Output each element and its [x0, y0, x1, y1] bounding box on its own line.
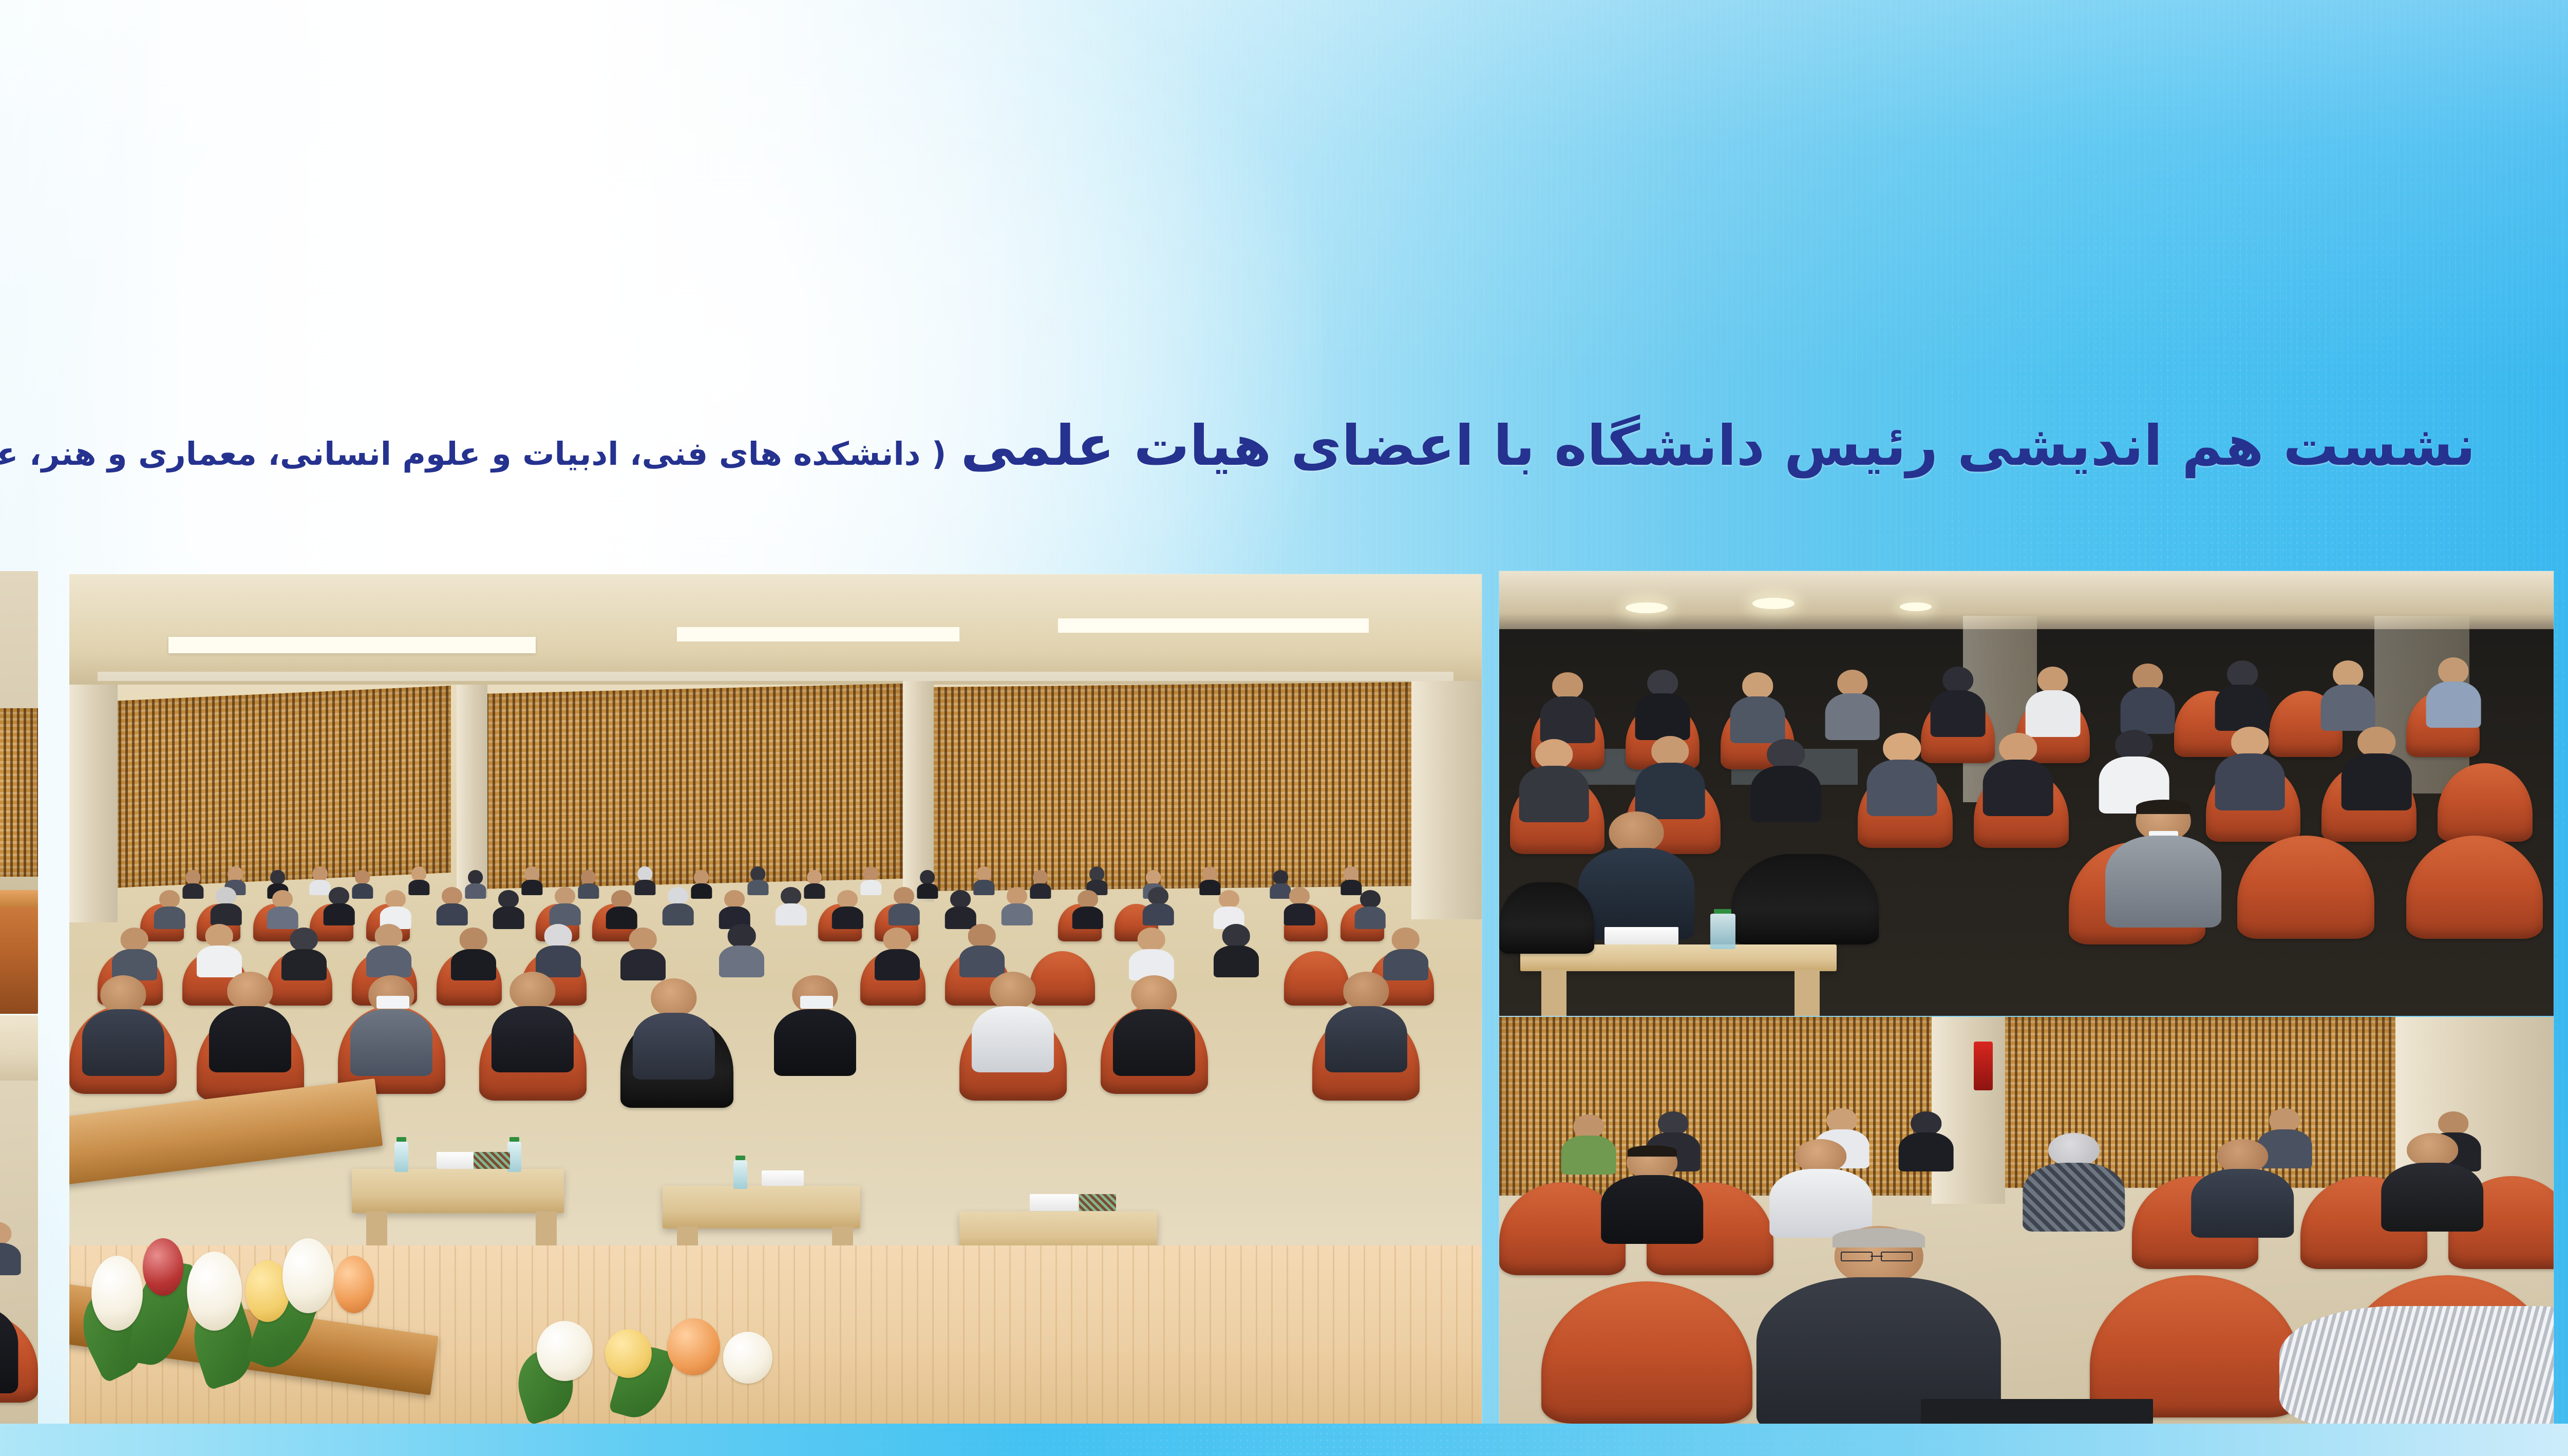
page-subtitle-faculties: ( دانشکده های فنی، ادبیات و علوم انسانی،… — [0, 437, 946, 475]
photo-audience-right-upper — [1499, 571, 2554, 1016]
photo-audience-right-lower — [1499, 1017, 2554, 1424]
photo-mosaic — [0, 571, 2568, 1424]
page-title: نشست هم اندیشی رئیس دانشگاه با اعضای هیا… — [960, 417, 2476, 475]
footer-gradient-strip — [0, 1424, 2568, 1456]
banner-title-row: نشست هم اندیشی رئیس دانشگاه با اعضای هیا… — [0, 417, 2476, 475]
event-banner: روابط عمومی دانشگاه گیلان نشست هم اندیشی… — [0, 0, 2568, 1456]
photo-hall-wide — [69, 574, 1482, 1424]
photo-podium-speaker — [0, 571, 38, 1014]
photo-audience-left — [0, 1015, 38, 1424]
